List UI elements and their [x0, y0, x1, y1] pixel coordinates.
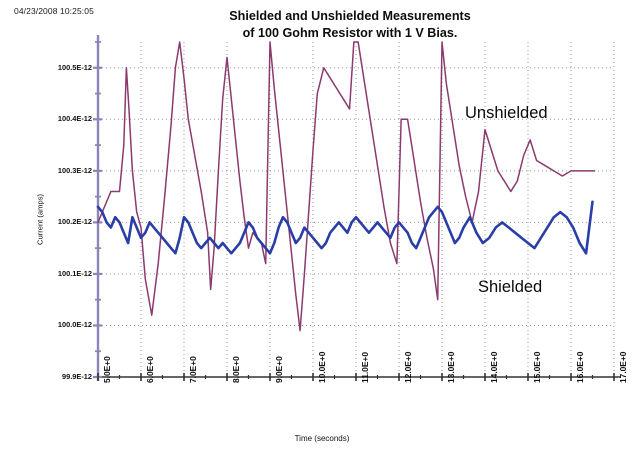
grid-layer	[98, 42, 614, 377]
x-tick-label: 8.0E+0	[231, 356, 241, 383]
x-tick-label: 9.0E+0	[274, 356, 284, 383]
chart-screenshot: 04/23/2008 10:25:05 Shielded and Unshiel…	[0, 0, 642, 455]
x-tick-label: 16.0E+0	[575, 352, 585, 383]
y-tick-label: 100.0E-12	[30, 320, 92, 329]
series-label-unshielded: Unshielded	[465, 104, 548, 123]
x-tick-label: 10.0E+0	[317, 352, 327, 383]
x-tick-label: 12.0E+0	[403, 352, 413, 383]
x-tick-label: 14.0E+0	[489, 352, 499, 383]
x-tick-label: 11.0E+0	[360, 352, 370, 383]
y-axis-title: Current (amps)	[36, 160, 45, 280]
y-tick-label: 100.5E-12	[30, 63, 92, 72]
series-label-shielded: Shielded	[478, 278, 542, 297]
x-tick-label: 13.0E+0	[446, 352, 456, 383]
x-tick-label: 17.0E+0	[618, 352, 628, 383]
x-axis-title: Time (seconds)	[222, 434, 422, 443]
x-tick-label: 6.0E+0	[145, 356, 155, 383]
y-tick-label: 100.4E-12	[30, 114, 92, 123]
plot-canvas	[0, 0, 642, 455]
x-tick-label: 7.0E+0	[188, 356, 198, 383]
x-tick-label: 5.0E+0	[102, 356, 112, 383]
y-tick-label: 99.9E-12	[30, 372, 92, 381]
x-tick-label: 15.0E+0	[532, 352, 542, 383]
